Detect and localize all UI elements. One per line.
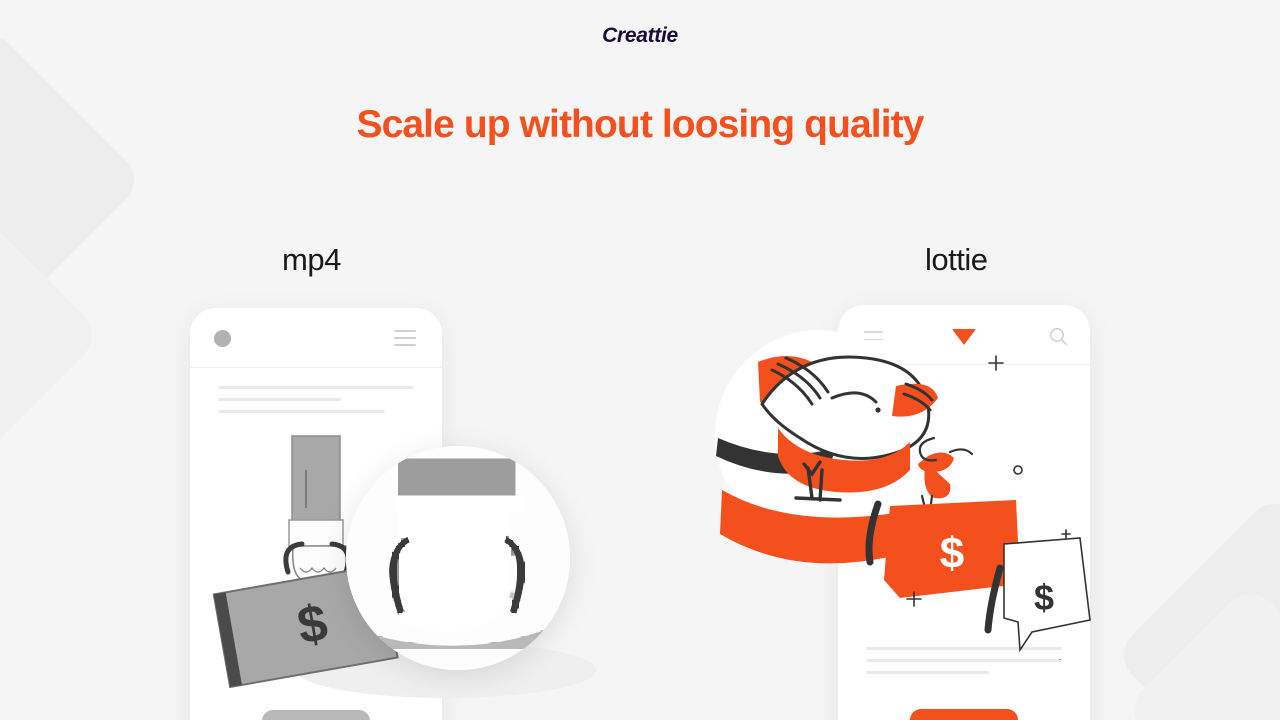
pixelated-zoom-circle <box>346 446 570 670</box>
avatar <box>214 330 231 347</box>
pixelated-hand-detail <box>346 446 570 670</box>
brand-logo: Creattie <box>0 24 1280 48</box>
column-label-mp4: mp4 <box>282 242 341 278</box>
cta-button-lottie[interactable] <box>910 709 1018 720</box>
page-title: Scale up without loosing quality <box>0 103 1280 147</box>
svg-text:$: $ <box>1034 577 1054 618</box>
placeholder-lines-mp4 <box>218 386 414 422</box>
hamburger-icon[interactable] <box>394 330 416 351</box>
phone-topbar-mp4 <box>190 308 442 368</box>
illustration-lottie-bird: $ $ <box>700 320 1120 660</box>
svg-text:$: $ <box>940 529 964 578</box>
column-label-lottie: lottie <box>925 242 987 278</box>
